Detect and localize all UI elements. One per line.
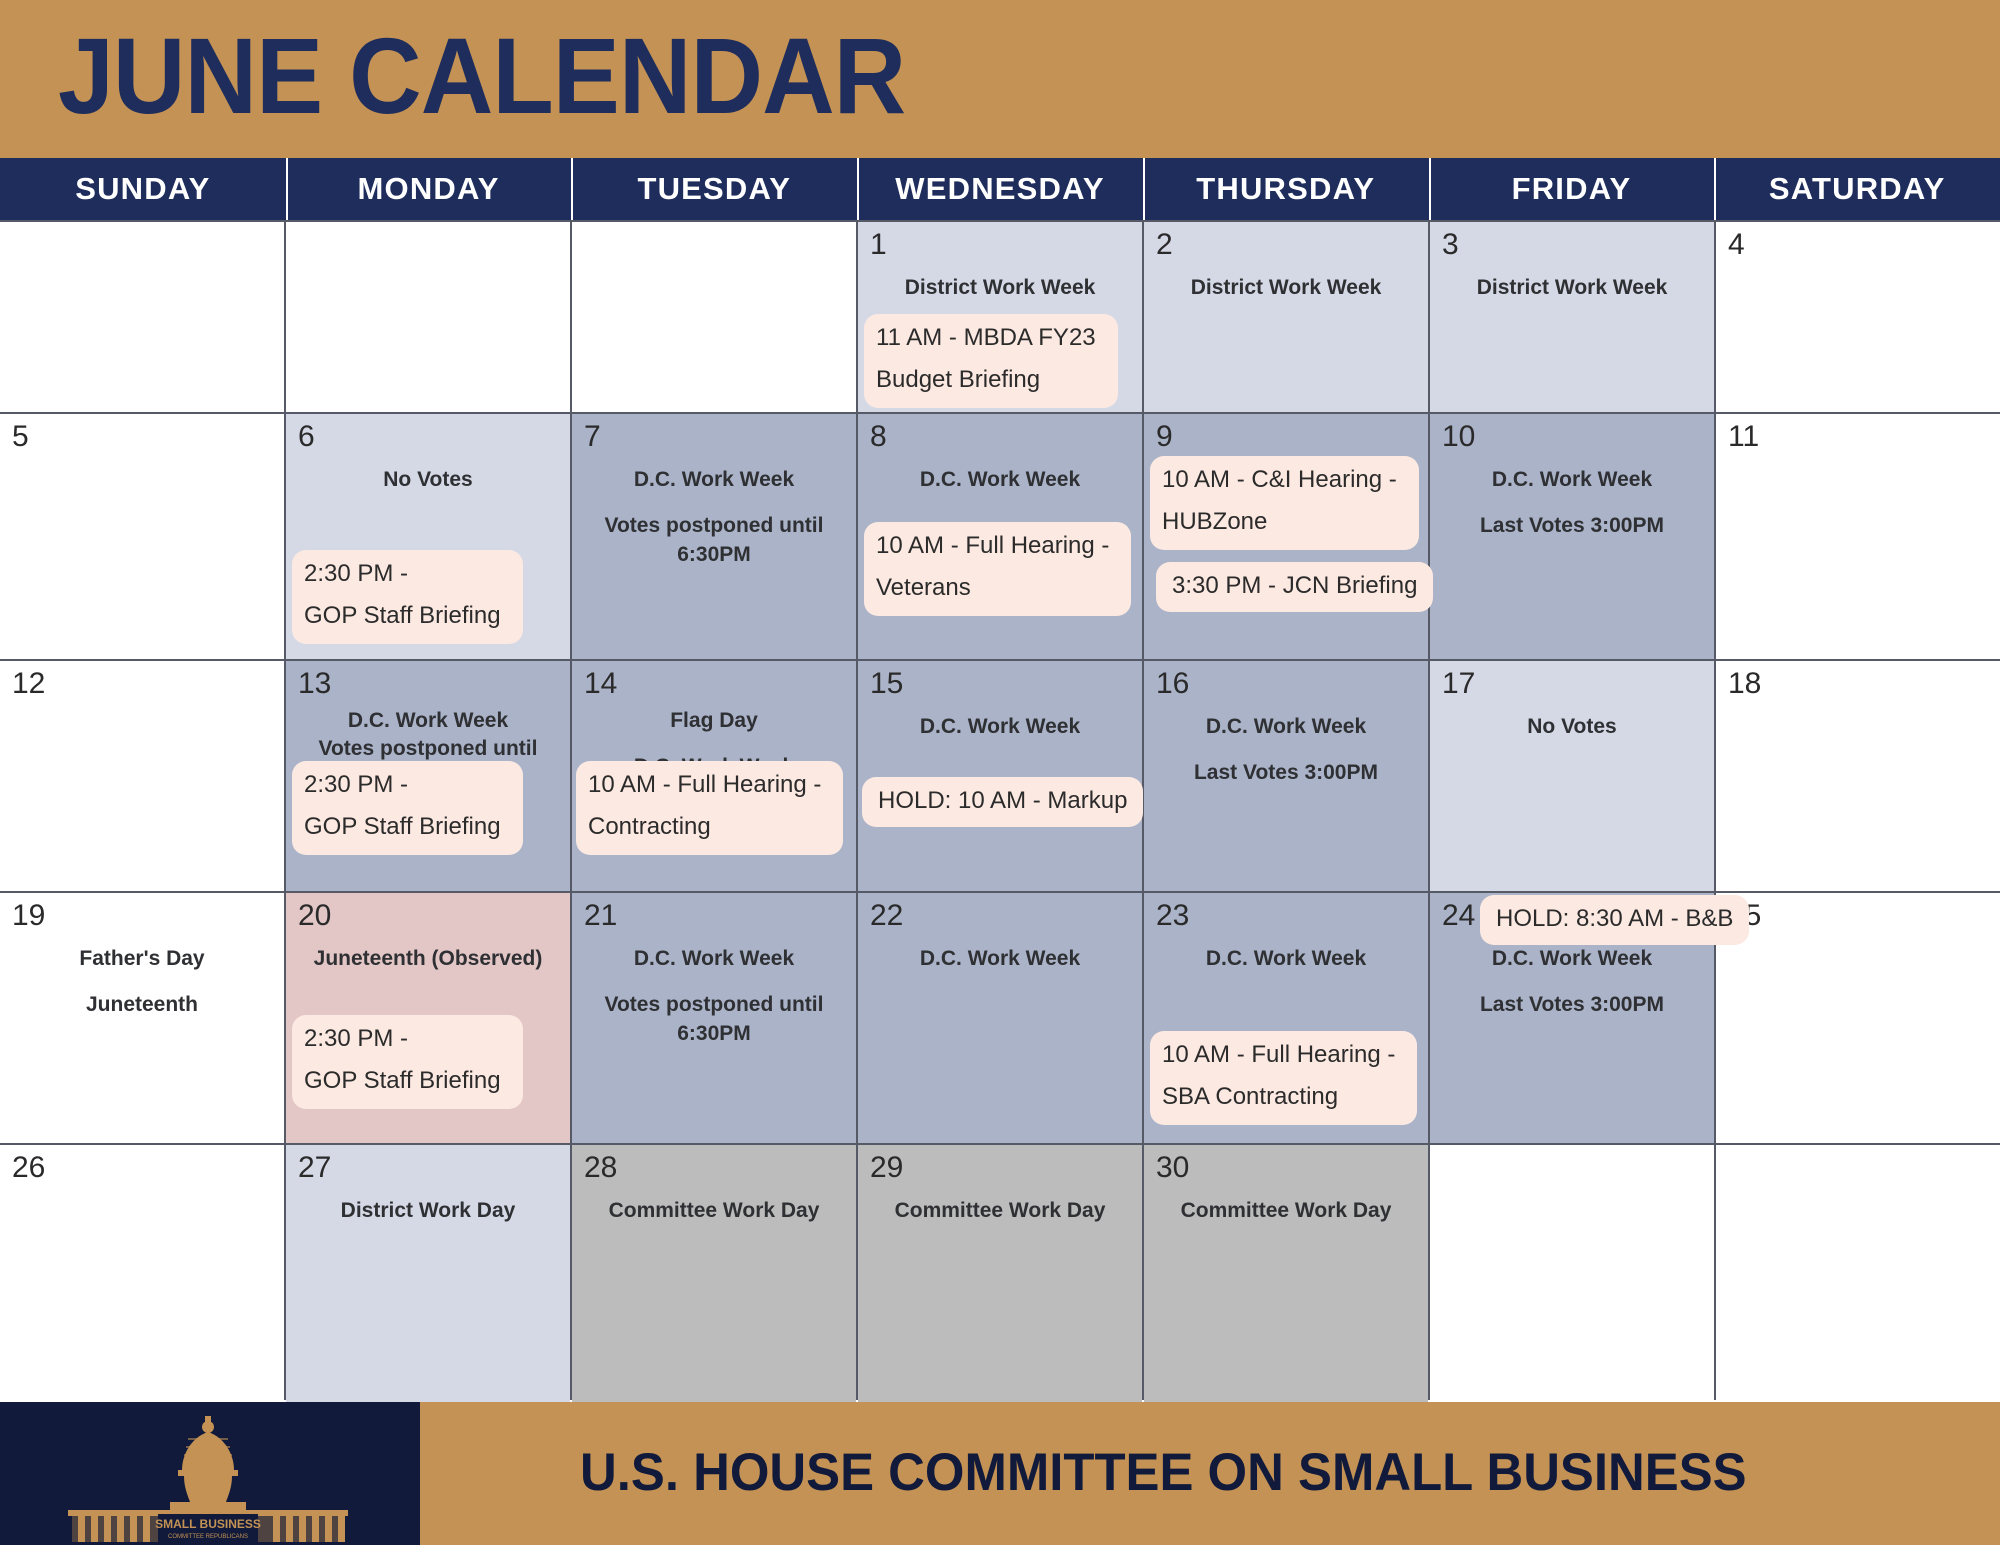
note-line: Budget Briefing bbox=[866, 360, 1050, 402]
sticky-note-mbda-briefing[interactable]: 11 AM - MBDA FY23 Budget Briefing bbox=[864, 314, 1118, 408]
day-number: 27 bbox=[298, 1151, 331, 1184]
day-events: D.C. Work Week bbox=[866, 945, 1134, 973]
day-events: D.C. Work Week bbox=[1152, 945, 1420, 973]
day-number: 11 bbox=[1728, 420, 1759, 453]
day-number: 17 bbox=[1442, 667, 1475, 700]
note-line: HUBZone bbox=[1152, 502, 1277, 544]
day-number: 28 bbox=[584, 1151, 617, 1184]
note-line: 3:30 PM - JCN Briefing bbox=[1172, 572, 1417, 599]
day-cell-4[interactable]: 4 bbox=[1716, 222, 2000, 412]
note-line: 2:30 PM - bbox=[294, 1019, 418, 1061]
day-number: 1 bbox=[870, 228, 887, 261]
logo-secondary-text: COMMITTEE REPUBLICANS bbox=[168, 1534, 248, 1540]
day-number: 15 bbox=[870, 667, 903, 700]
weekday-header-saturday: SATURDAY bbox=[1714, 158, 2000, 220]
note-line: 2:30 PM - bbox=[294, 765, 418, 807]
day-cell-27[interactable]: 27 District Work Day bbox=[286, 1145, 570, 1410]
day-cell-25[interactable]: 25 bbox=[1716, 893, 2000, 1143]
day-number: 30 bbox=[1156, 1151, 1189, 1184]
note-line: Veterans bbox=[866, 568, 981, 610]
sticky-note-jcn-briefing[interactable]: 3:30 PM - JCN Briefing bbox=[1156, 562, 1433, 612]
event-text: Juneteenth (Observed) bbox=[294, 945, 562, 973]
note-line: SBA Contracting bbox=[1152, 1077, 1348, 1119]
day-number: 9 bbox=[1156, 420, 1173, 453]
day-events: D.C. Work Week Last Votes 3:00PM bbox=[1438, 466, 1706, 541]
logo-primary-text: SMALL BUSINESS bbox=[155, 1517, 261, 1531]
day-cell-15[interactable]: 15 D.C. Work Week HOLD: 10 AM - Markup bbox=[858, 661, 1142, 891]
event-text: D.C. Work Week bbox=[1152, 945, 1420, 973]
day-cell-10[interactable]: 10 D.C. Work Week Last Votes 3:00PM bbox=[1430, 414, 1714, 659]
sticky-note-ci-hearing-hubzone[interactable]: 10 AM - C&I Hearing - HUBZone bbox=[1150, 456, 1419, 550]
day-number: 21 bbox=[584, 899, 617, 932]
note-line: 10 AM - Full Hearing - bbox=[866, 526, 1119, 568]
sticky-note-full-hearing-sba-contracting[interactable]: 10 AM - Full Hearing - SBA Contracting bbox=[1150, 1031, 1417, 1125]
sticky-note-gop-staff-briefing[interactable]: 2:30 PM - GOP Staff Briefing bbox=[292, 550, 523, 644]
day-cell-6[interactable]: 6 No Votes 2:30 PM - GOP Staff Briefing bbox=[286, 414, 570, 659]
event-text: D.C. Work Week bbox=[866, 945, 1134, 973]
day-cell-24[interactable]: 24 D.C. Work Week Last Votes 3:00PM HOLD… bbox=[1430, 893, 1714, 1143]
sticky-note-gop-staff-briefing[interactable]: 2:30 PM - GOP Staff Briefing bbox=[292, 1015, 523, 1109]
event-text: No Votes bbox=[294, 466, 562, 494]
sticky-note-hold-markup[interactable]: HOLD: 10 AM - Markup bbox=[862, 777, 1143, 827]
day-cell-5[interactable]: 5 bbox=[0, 414, 284, 659]
event-text: Votes postponed until 6:30PM bbox=[580, 512, 848, 569]
day-number: 4 bbox=[1728, 228, 1745, 261]
day-number: 8 bbox=[870, 420, 887, 453]
day-cell-20[interactable]: 20 Juneteenth (Observed) 2:30 PM - GOP S… bbox=[286, 893, 570, 1143]
day-number: 7 bbox=[584, 420, 601, 453]
day-cell-7[interactable]: 7 D.C. Work Week Votes postponed until 6… bbox=[572, 414, 856, 659]
calendar-grid: 1 District Work Week 11 AM - MBDA FY23 B… bbox=[0, 220, 2000, 1400]
title-banner: JUNE CALENDAR bbox=[0, 0, 2000, 158]
day-events: District Work Day bbox=[294, 1197, 562, 1225]
event-text: D.C. Work Week bbox=[1438, 945, 1706, 973]
day-cell-3[interactable]: 3 District Work Week bbox=[1430, 222, 1714, 412]
note-line: 10 AM - Full Hearing - bbox=[578, 765, 831, 807]
weekday-header-thursday: THURSDAY bbox=[1143, 158, 1429, 220]
day-events: No Votes bbox=[1438, 713, 1706, 741]
day-events: D.C. Work Week bbox=[866, 713, 1134, 741]
day-events: District Work Week bbox=[1438, 274, 1706, 302]
weekday-header-sunday: SUNDAY bbox=[0, 158, 286, 220]
day-number: 10 bbox=[1442, 420, 1475, 453]
event-text: Last Votes 3:00PM bbox=[1438, 991, 1706, 1019]
event-text: D.C. Work Week bbox=[866, 713, 1134, 741]
note-line: 10 AM - Full Hearing - bbox=[1152, 1035, 1405, 1077]
event-text: Committee Work Day bbox=[866, 1197, 1134, 1225]
day-cell-empty bbox=[0, 222, 284, 412]
committee-logo: SMALL BUSINESS COMMITTEE REPUBLICANS bbox=[0, 1402, 420, 1545]
footer-organization-name: U.S. HOUSE COMMITTEE ON SMALL BUSINESS bbox=[580, 1442, 1747, 1503]
sticky-note-gop-staff-briefing[interactable]: 2:30 PM - GOP Staff Briefing bbox=[292, 761, 523, 855]
event-text: D.C. Work Week bbox=[1438, 466, 1706, 494]
day-number: 16 bbox=[1156, 667, 1189, 700]
note-line: HOLD: 10 AM - Markup bbox=[878, 787, 1127, 814]
day-number: 5 bbox=[12, 420, 29, 453]
day-number: 24 bbox=[1442, 899, 1475, 932]
day-events: D.C. Work Week Votes postponed until 6:3… bbox=[580, 466, 848, 569]
day-events: Committee Work Day bbox=[866, 1197, 1134, 1225]
sticky-note-hold-bnb[interactable]: HOLD: 8:30 AM - B&B bbox=[1480, 895, 1749, 945]
event-text: Last Votes 3:00PM bbox=[1438, 512, 1706, 540]
day-number: 3 bbox=[1442, 228, 1459, 261]
day-cell-30[interactable]: 30 Committee Work Day bbox=[1144, 1145, 1428, 1410]
day-events: Committee Work Day bbox=[580, 1197, 848, 1225]
day-events: District Work Week bbox=[1152, 274, 1420, 302]
event-text: D.C. Work Week bbox=[580, 945, 848, 973]
sticky-note-full-hearing-contracting[interactable]: 10 AM - Full Hearing - Contracting bbox=[576, 761, 843, 855]
day-cell-empty bbox=[286, 222, 570, 412]
event-text: District Work Week bbox=[1438, 274, 1706, 302]
note-line: Contracting bbox=[578, 807, 721, 849]
day-number: 14 bbox=[584, 667, 617, 700]
event-text: District Work Week bbox=[1152, 274, 1420, 302]
day-cell-28[interactable]: 28 Committee Work Day bbox=[572, 1145, 856, 1410]
footer-banner: SMALL BUSINESS COMMITTEE REPUBLICANS U.S… bbox=[0, 1402, 2000, 1545]
weekday-header-row: SUNDAY MONDAY TUESDAY WEDNESDAY THURSDAY… bbox=[0, 158, 2000, 220]
day-events: Father's Day Juneteenth bbox=[8, 945, 276, 1020]
day-cell-29[interactable]: 29 Committee Work Day bbox=[858, 1145, 1142, 1410]
event-text: District Work Week bbox=[866, 274, 1134, 302]
day-number: 20 bbox=[298, 899, 331, 932]
weekday-header-friday: FRIDAY bbox=[1429, 158, 1715, 220]
day-number: 6 bbox=[298, 420, 315, 453]
day-number: 13 bbox=[298, 667, 331, 700]
day-events: D.C. Work Week Last Votes 3:00PM bbox=[1438, 945, 1706, 1020]
day-number: 2 bbox=[1156, 228, 1173, 261]
day-cell-17[interactable]: 17 No Votes bbox=[1430, 661, 1714, 891]
day-cell-26[interactable]: 26 bbox=[0, 1145, 284, 1410]
note-line: 11 AM - MBDA FY23 bbox=[866, 318, 1106, 360]
event-text: D.C. Work Week bbox=[1152, 713, 1420, 741]
day-cell-23[interactable]: 23 D.C. Work Week 10 AM - Full Hearing -… bbox=[1144, 893, 1428, 1143]
event-text: Last Votes 3:00PM bbox=[1152, 759, 1420, 787]
capitol-dome-icon: SMALL BUSINESS COMMITTEE REPUBLICANS bbox=[58, 1414, 358, 1542]
note-line: GOP Staff Briefing bbox=[294, 807, 511, 849]
day-events: D.C. Work Week Last Votes 3:00PM bbox=[1152, 713, 1420, 788]
event-text: Father's Day bbox=[8, 945, 276, 973]
note-line: 10 AM - C&I Hearing - bbox=[1152, 460, 1407, 502]
day-cell-16[interactable]: 16 D.C. Work Week Last Votes 3:00PM bbox=[1144, 661, 1428, 891]
sticky-note-full-hearing-veterans[interactable]: 10 AM - Full Hearing - Veterans bbox=[864, 522, 1131, 616]
day-cell-13[interactable]: 13 D.C. Work Week Votes postponed until … bbox=[286, 661, 570, 891]
event-text: Committee Work Day bbox=[1152, 1197, 1420, 1225]
day-cell-2[interactable]: 2 District Work Week bbox=[1144, 222, 1428, 412]
event-text: Votes postponed until 6:30PM bbox=[580, 991, 848, 1048]
day-events: D.C. Work Week bbox=[866, 466, 1134, 494]
note-line: GOP Staff Briefing bbox=[294, 1061, 511, 1103]
event-text: D.C. Work Week bbox=[866, 466, 1134, 494]
page-title: JUNE CALENDAR bbox=[58, 8, 905, 143]
day-cell-1[interactable]: 1 District Work Week 11 AM - MBDA FY23 B… bbox=[858, 222, 1142, 412]
day-events: No Votes bbox=[294, 466, 562, 494]
day-cell-empty bbox=[572, 222, 856, 412]
note-line: HOLD: 8:30 AM - B&B bbox=[1496, 905, 1733, 932]
day-events: District Work Week bbox=[866, 274, 1134, 302]
note-line: GOP Staff Briefing bbox=[294, 596, 511, 638]
day-number: 23 bbox=[1156, 899, 1189, 932]
day-events: Juneteenth (Observed) bbox=[294, 945, 562, 973]
day-cell-18[interactable]: 18 bbox=[1716, 661, 2000, 891]
event-text: D.C. Work Week bbox=[294, 707, 562, 735]
day-number: 26 bbox=[12, 1151, 45, 1184]
day-events: D.C. Work Week Votes postponed until 6:3… bbox=[580, 945, 848, 1048]
day-cell-21[interactable]: 21 D.C. Work Week Votes postponed until … bbox=[572, 893, 856, 1143]
event-text: Flag Day bbox=[580, 707, 848, 735]
day-number: 12 bbox=[12, 667, 45, 700]
event-text: No Votes bbox=[1438, 713, 1706, 741]
event-text: Juneteenth bbox=[8, 991, 276, 1019]
day-cell-14[interactable]: 14 Flag Day D.C. Work Week 10 AM - Full … bbox=[572, 661, 856, 891]
day-cell-12[interactable]: 12 bbox=[0, 661, 284, 891]
note-line: 2:30 PM - bbox=[294, 554, 418, 596]
day-cell-empty bbox=[1430, 1145, 1714, 1410]
day-events: Committee Work Day bbox=[1152, 1197, 1420, 1225]
day-cell-9[interactable]: 9 10 AM - C&I Hearing - HUBZone 3:30 PM … bbox=[1144, 414, 1428, 659]
day-cell-empty bbox=[1716, 1145, 2000, 1410]
day-number: 18 bbox=[1728, 667, 1761, 700]
event-text: Committee Work Day bbox=[580, 1197, 848, 1225]
event-text: D.C. Work Week bbox=[580, 466, 848, 494]
day-number: 19 bbox=[12, 899, 45, 932]
weekday-header-tuesday: TUESDAY bbox=[571, 158, 857, 220]
day-number: 29 bbox=[870, 1151, 903, 1184]
weekday-header-monday: MONDAY bbox=[286, 158, 572, 220]
day-number: 22 bbox=[870, 899, 903, 932]
day-cell-8[interactable]: 8 D.C. Work Week 10 AM - Full Hearing - … bbox=[858, 414, 1142, 659]
day-cell-22[interactable]: 22 D.C. Work Week bbox=[858, 893, 1142, 1143]
day-cell-19[interactable]: 19 Father's Day Juneteenth bbox=[0, 893, 284, 1143]
calendar-page: JUNE CALENDAR SUNDAY MONDAY TUESDAY WEDN… bbox=[0, 0, 2000, 1545]
day-cell-11[interactable]: 11 bbox=[1716, 414, 2000, 659]
event-text: District Work Day bbox=[294, 1197, 562, 1225]
weekday-header-wednesday: WEDNESDAY bbox=[857, 158, 1143, 220]
